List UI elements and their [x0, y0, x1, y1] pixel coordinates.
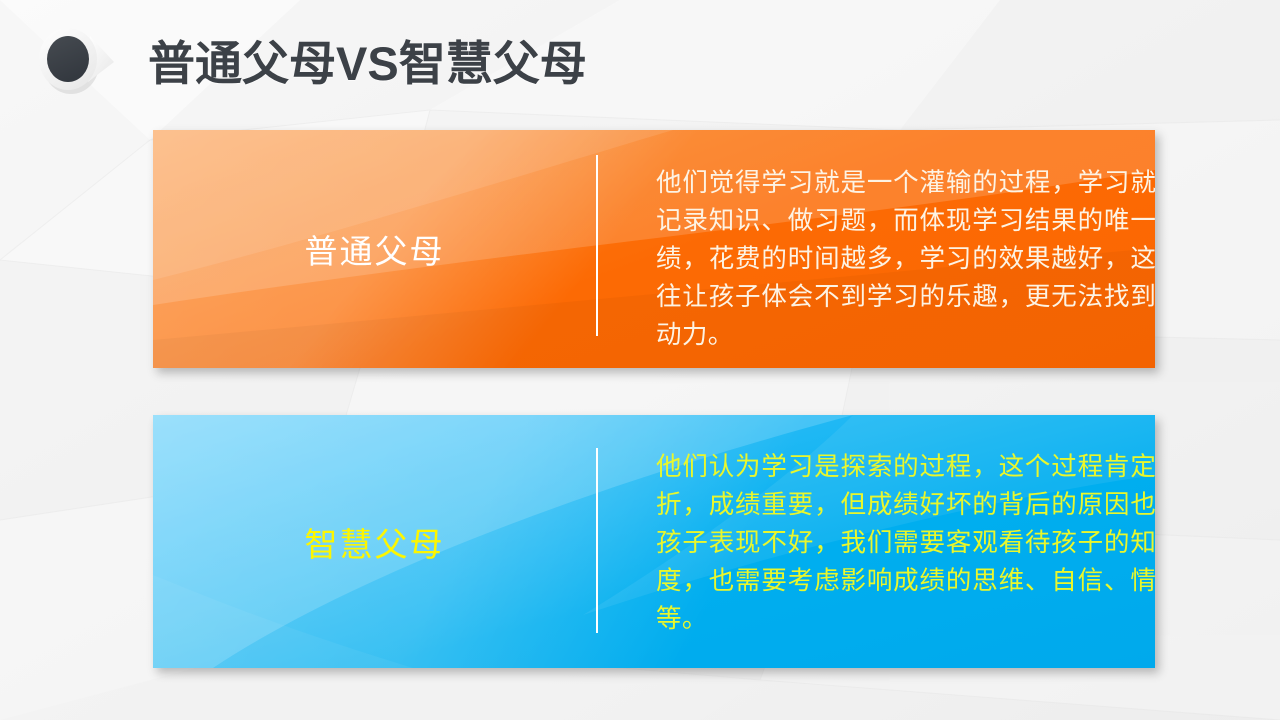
panel-divider-orange — [596, 155, 598, 336]
panel-ordinary-parents[interactable]: 普通父母 他们觉得学习就是一个灌输的过程，学习就是需要孩子记录知识、做习题，而体… — [153, 130, 1155, 368]
slide-canvas: 普通父母VS智慧父母 普通父母 他们觉得学习就是一个灌输的过程，学习就是需要孩子… — [0, 0, 1280, 720]
panel-label-ordinary-parents: 普通父母 — [153, 130, 596, 368]
panel-label-wise-parents: 智慧父母 — [153, 415, 596, 668]
page-title: 普通父母VS智慧父母 — [148, 22, 587, 96]
panel-divider-blue — [596, 448, 598, 633]
panel-body-wise-parents: 他们认为学习是探索的过程，这个过程肯定有波动、曲折，成绩重要，但成绩好坏的背后的… — [656, 448, 1155, 638]
panel-wise-parents[interactable]: 智慧父母 他们认为学习是探索的过程，这个过程肯定有波动、曲折，成绩重要，但成绩好… — [153, 415, 1155, 668]
panel-body-ordinary-parents: 他们觉得学习就是一个灌输的过程，学习就是需要孩子记录知识、做习题，而体现学习结果… — [656, 164, 1155, 354]
filled-circle-pin-icon — [30, 22, 122, 96]
slide-header: 普通父母VS智慧父母 — [0, 0, 1280, 118]
